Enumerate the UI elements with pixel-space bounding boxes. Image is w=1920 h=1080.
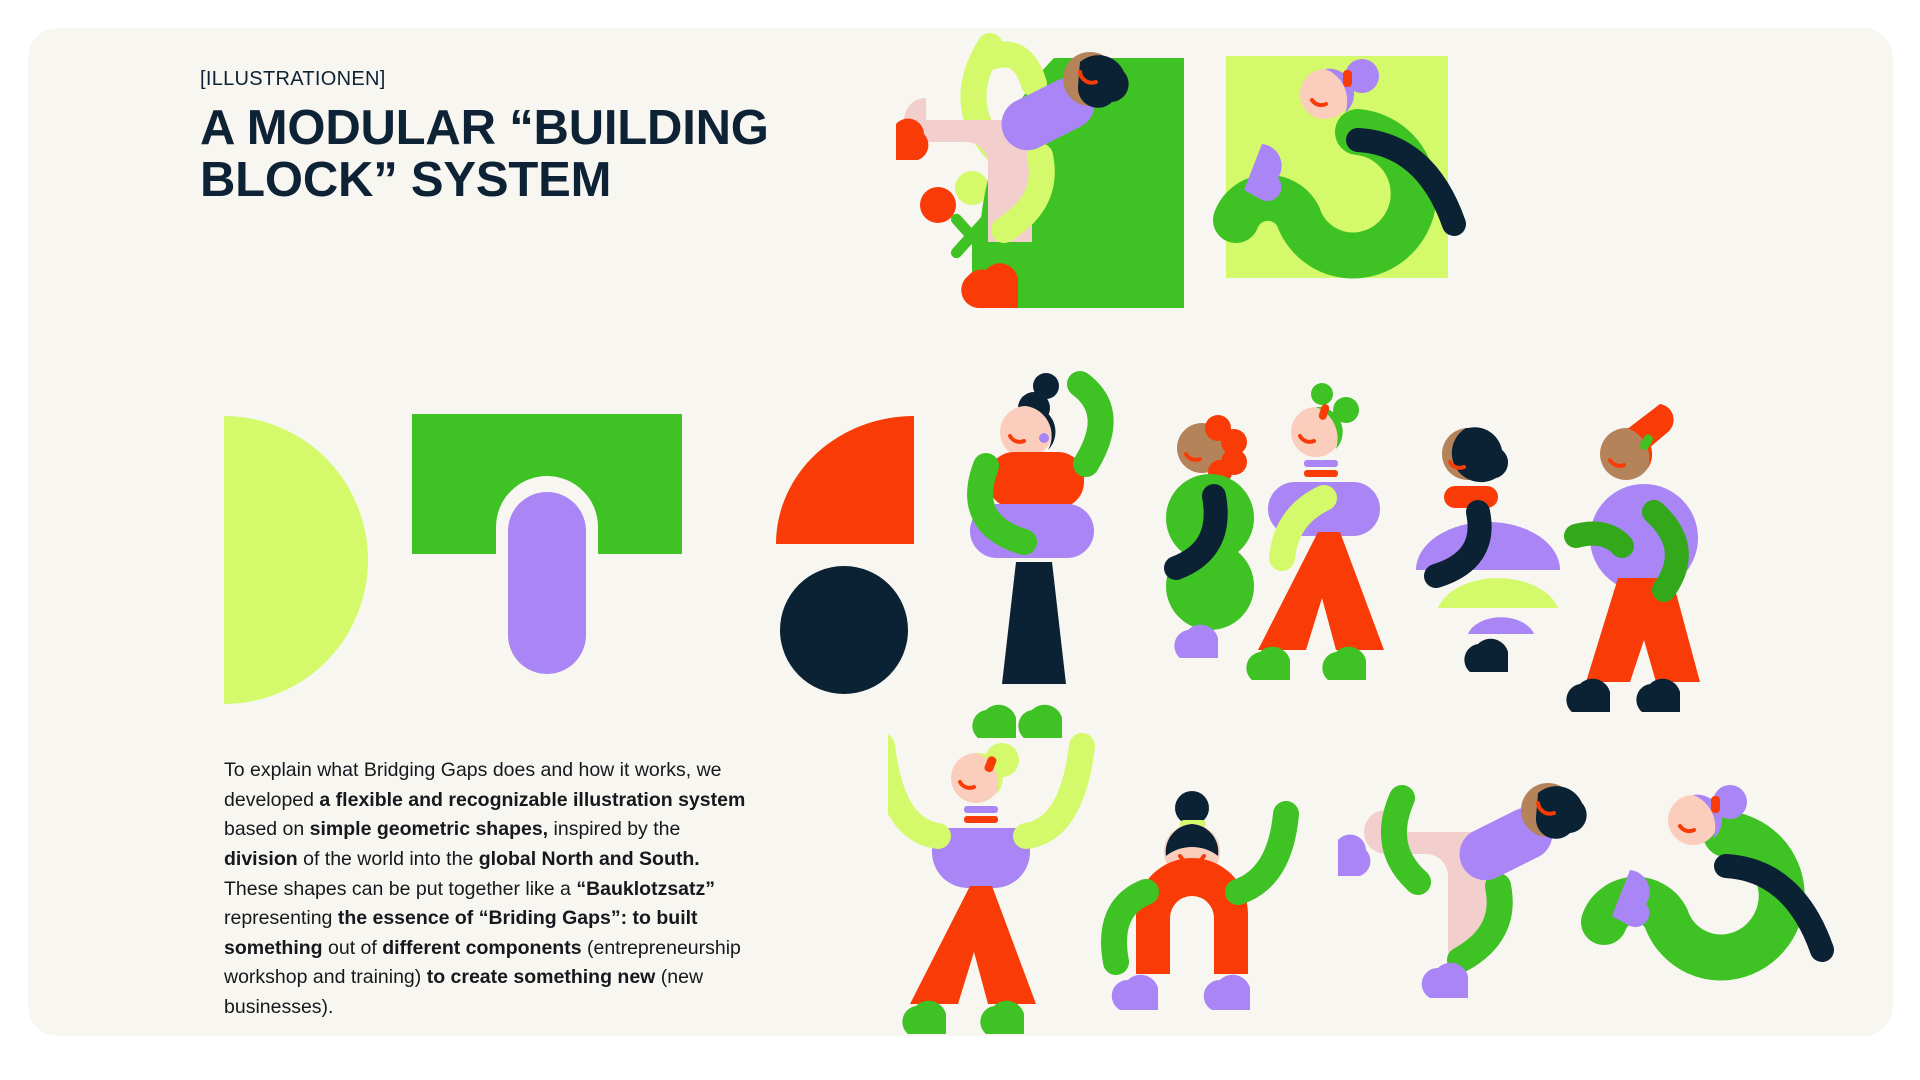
illustration-figure-ponytail (1566, 404, 1700, 712)
slide-card: [ILLUSTRATIONEN] A MODULAR “BUILDING BLO… (28, 28, 1893, 1036)
illustration-curled-figure-panel (1226, 56, 1454, 278)
illustration-figure-arms-raised (888, 743, 1082, 1034)
illustration-figure-bent-block (1338, 783, 1587, 998)
illustration-canvas (888, 28, 1893, 1036)
left-column: [ILLUSTRATIONEN] A MODULAR “BUILDING BLO… (200, 68, 840, 207)
illustration-figure-stacked-domes (1416, 427, 1560, 672)
arch-shape-group (412, 414, 682, 714)
illustration-figure-bun-skirt (970, 373, 1101, 738)
illustration-climbing-figure (896, 46, 1184, 308)
paragraph-one: To explain what Bridging Gaps does and h… (224, 756, 754, 875)
page-title: A MODULAR “BUILDING BLOCK” SYSTEM (200, 103, 840, 207)
eyebrow-label: [ILLUSTRATIONEN] (200, 68, 840, 91)
illustration-figure-curled-green (1604, 785, 1822, 957)
illustration-figure-red-curls (1166, 415, 1254, 658)
capsule-pill-shape (508, 492, 586, 674)
half-circle-shape (224, 416, 368, 704)
illustration-area (888, 28, 1893, 1036)
illustration-figure-arch-body (1112, 791, 1286, 1010)
body-copy: To explain what Bridging Gaps does and h… (224, 756, 754, 1023)
paragraph-two: These shapes can be put together like a … (224, 875, 754, 1023)
illustration-figure-green-bun (1246, 383, 1384, 680)
shape-vocabulary-row (224, 408, 864, 708)
